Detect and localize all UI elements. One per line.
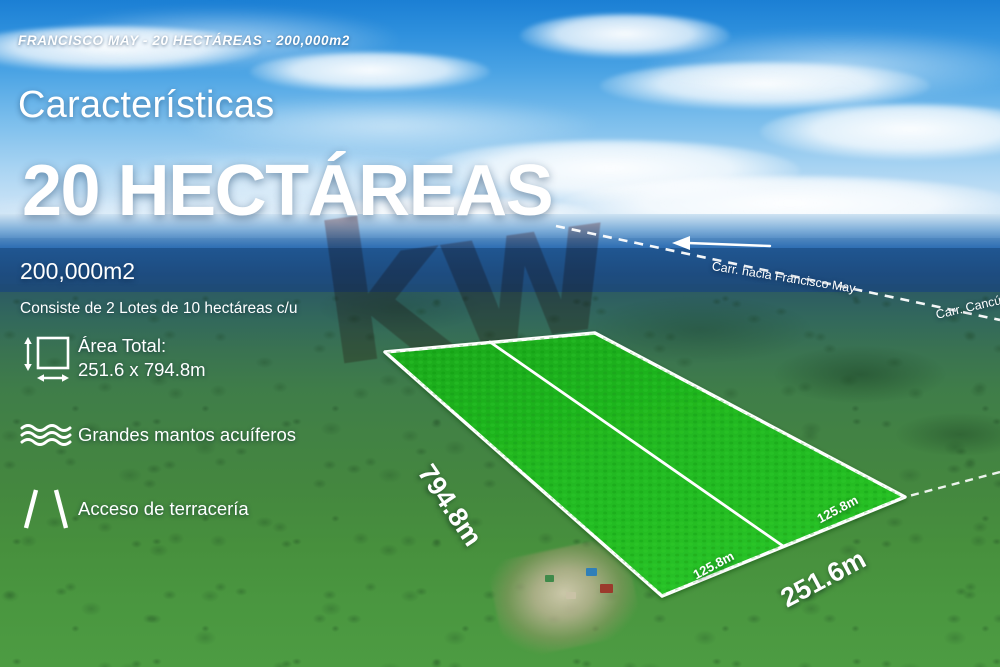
water-waves-icon [16,420,78,450]
feature-label: Grandes mantos acuíferos [78,423,296,447]
feature-road-access: Acceso de terracería [16,487,249,531]
parcel-polygon [385,333,905,596]
listing-graphic: kw [0,0,1000,667]
page-title: Características [18,84,274,127]
area-m2-text: 200,000m2 [20,258,135,285]
feature-label: Área Total: 251.6 x 794.8m [78,334,206,381]
eyebrow-title: FRANCISCO MAY - 20 HECTÁREAS - 200,000m2 [18,33,350,48]
hero-headline: 20 HECTÁREAS [22,155,552,227]
dirt-road-icon [16,487,78,531]
lots-note-text: Consiste de 2 Lotes de 10 hectáreas c/u [20,300,297,318]
feature-area-total: Área Total: 251.6 x 794.8m [16,334,206,386]
dimensions-icon [16,334,78,386]
feature-aquifers: Grandes mantos acuíferos [16,420,296,450]
feature-label: Acceso de terracería [78,497,249,521]
left-arrow-icon [672,236,770,250]
